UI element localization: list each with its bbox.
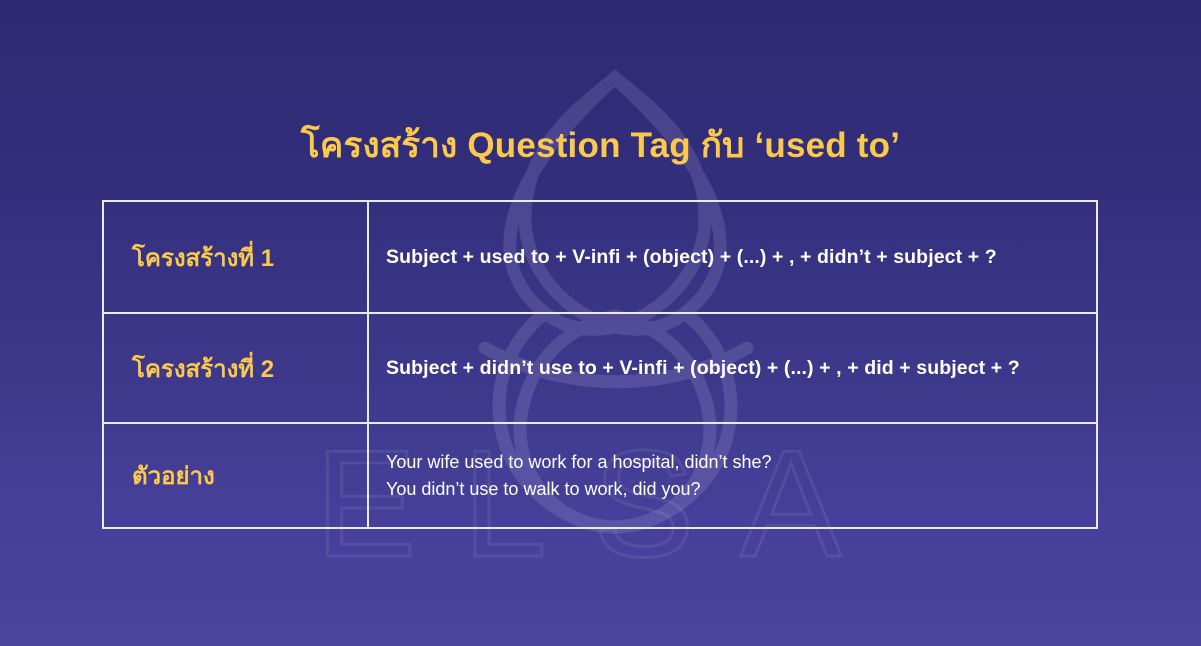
table-row: โครงสร้างที่ 2 Subject + didn’t use to +…: [104, 312, 1096, 422]
row-content-structure-1: Subject + used to + V-infi + (object) + …: [369, 202, 1096, 312]
formula-text: Subject + used to + V-infi + (object) + …: [386, 246, 997, 269]
page-title: โครงสร้าง Question Tag กับ ‘used to’: [0, 118, 1201, 173]
table-row: ตัวอย่าง Your wife used to work for a ho…: [104, 422, 1096, 527]
row-label-structure-1: โครงสร้างที่ 1: [104, 202, 369, 312]
row-label-structure-2: โครงสร้างที่ 2: [104, 314, 369, 422]
row-content-examples: Your wife used to work for a hospital, d…: [369, 424, 1096, 527]
row-label-examples: ตัวอย่าง: [104, 424, 369, 527]
grammar-structure-table: โครงสร้างที่ 1 Subject + used to + V-inf…: [102, 200, 1098, 529]
formula-text: Subject + didn’t use to + V-infi + (obje…: [386, 357, 1020, 380]
slide-canvas: ELSA โครงสร้าง Question Tag กับ ‘used to…: [0, 0, 1201, 646]
examples-list: Your wife used to work for a hospital, d…: [386, 449, 772, 501]
example-sentence-1: Your wife used to work for a hospital, d…: [386, 449, 772, 475]
example-sentence-2: You didn’t use to walk to work, did you?: [386, 476, 772, 502]
row-content-structure-2: Subject + didn’t use to + V-infi + (obje…: [369, 314, 1096, 422]
table-row: โครงสร้างที่ 1 Subject + used to + V-inf…: [104, 202, 1096, 312]
